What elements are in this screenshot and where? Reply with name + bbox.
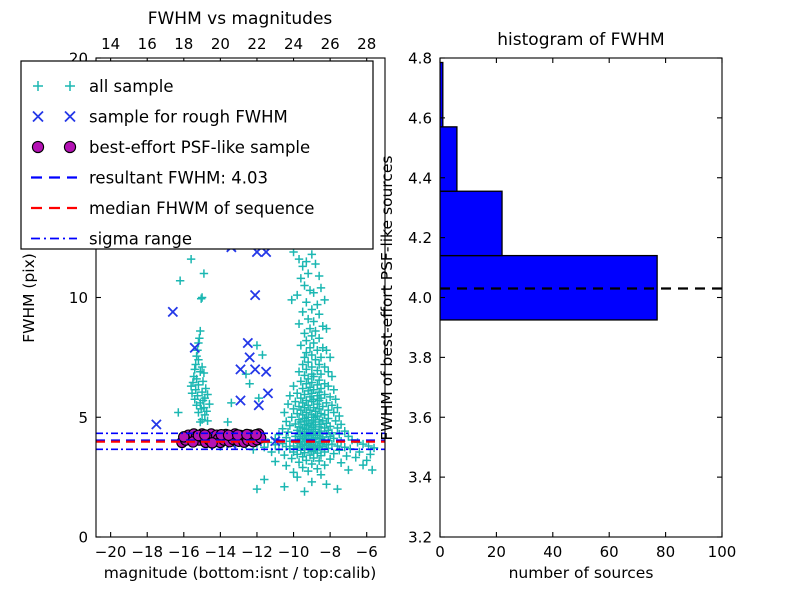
right-ytick: 3.4 bbox=[408, 469, 432, 487]
circle-marker bbox=[207, 438, 217, 448]
left-yaxis-label: FWHM (pix) bbox=[20, 253, 38, 343]
right-yaxis-label: FWHM of best-effort PSF-like sources bbox=[378, 155, 396, 440]
circle-marker bbox=[32, 141, 43, 152]
legend-label: resultant FWHM: 4.03 bbox=[89, 169, 268, 188]
right-xaxis-label: number of sources bbox=[509, 564, 654, 582]
left-xtick-top: 16 bbox=[138, 35, 157, 53]
left-xtick-top: 14 bbox=[101, 35, 120, 53]
matplotlib-figure: −20−18−16−14−12−10−8−6141618202224262805… bbox=[0, 0, 800, 600]
histogram-bar bbox=[440, 191, 502, 255]
left-xtick-bottom: −12 bbox=[241, 543, 273, 561]
left-xtick-bottom: −14 bbox=[205, 543, 237, 561]
left-xaxis-label: magnitude (bottom:isnt / top:calib) bbox=[104, 564, 377, 582]
left-xtick-bottom: −20 bbox=[95, 543, 127, 561]
legend-label: all sample bbox=[89, 77, 174, 96]
left-ytick: 10 bbox=[69, 289, 88, 307]
right-ytick: 3.6 bbox=[408, 409, 432, 427]
left-xtick-top: 22 bbox=[247, 35, 266, 53]
circle-marker bbox=[64, 141, 75, 152]
left-xtick-top: 20 bbox=[211, 35, 230, 53]
legend-label: median FHWM of sequence bbox=[89, 199, 314, 218]
left-ytick: 5 bbox=[78, 409, 88, 427]
left-xtick-bottom: −6 bbox=[356, 543, 378, 561]
right-panel-title: histogram of FWHM bbox=[497, 30, 664, 50]
right-xtick: 20 bbox=[487, 543, 506, 561]
left-xtick-top: 26 bbox=[321, 35, 340, 53]
right-xtick: 40 bbox=[543, 543, 562, 561]
histogram-bar bbox=[440, 127, 457, 191]
plot-legend[interactable]: all samplesample for rough FWHMbest-effo… bbox=[21, 61, 373, 249]
right-xtick: 60 bbox=[600, 543, 619, 561]
scatter-series bbox=[177, 429, 266, 448]
right-ytick: 4.4 bbox=[408, 169, 432, 187]
right-ytick: 4.2 bbox=[408, 229, 432, 247]
left-xtick-top: 28 bbox=[357, 35, 376, 53]
left-ytick: 0 bbox=[78, 529, 88, 547]
right-xtick: 100 bbox=[708, 543, 737, 561]
circle-marker bbox=[251, 430, 261, 440]
right-xtick: 80 bbox=[656, 543, 675, 561]
figure-canvas: −20−18−16−14−12−10−8−6141618202224262805… bbox=[0, 0, 800, 600]
right-ytick: 3.2 bbox=[408, 529, 432, 547]
left-xtick-bottom: −10 bbox=[278, 543, 310, 561]
legend-label: sigma range bbox=[89, 230, 192, 249]
left-xtick-bottom: −18 bbox=[131, 543, 163, 561]
right-xtick: 0 bbox=[435, 543, 445, 561]
right-ytick: 4.8 bbox=[408, 50, 432, 68]
legend-label: best-effort PSF-like sample bbox=[89, 138, 310, 157]
right-ytick: 4.6 bbox=[408, 109, 432, 127]
left-xtick-bottom: −8 bbox=[319, 543, 341, 561]
right-ytick: 3.8 bbox=[408, 349, 432, 367]
legend-label: sample for rough FWHM bbox=[89, 108, 288, 127]
left-xtick-top: 18 bbox=[174, 35, 193, 53]
left-xtick-top: 24 bbox=[284, 35, 303, 53]
left-panel-title: FWHM vs magnitudes bbox=[148, 9, 333, 29]
left-xtick-bottom: −16 bbox=[168, 543, 200, 561]
right-ytick: 4.0 bbox=[408, 289, 432, 307]
